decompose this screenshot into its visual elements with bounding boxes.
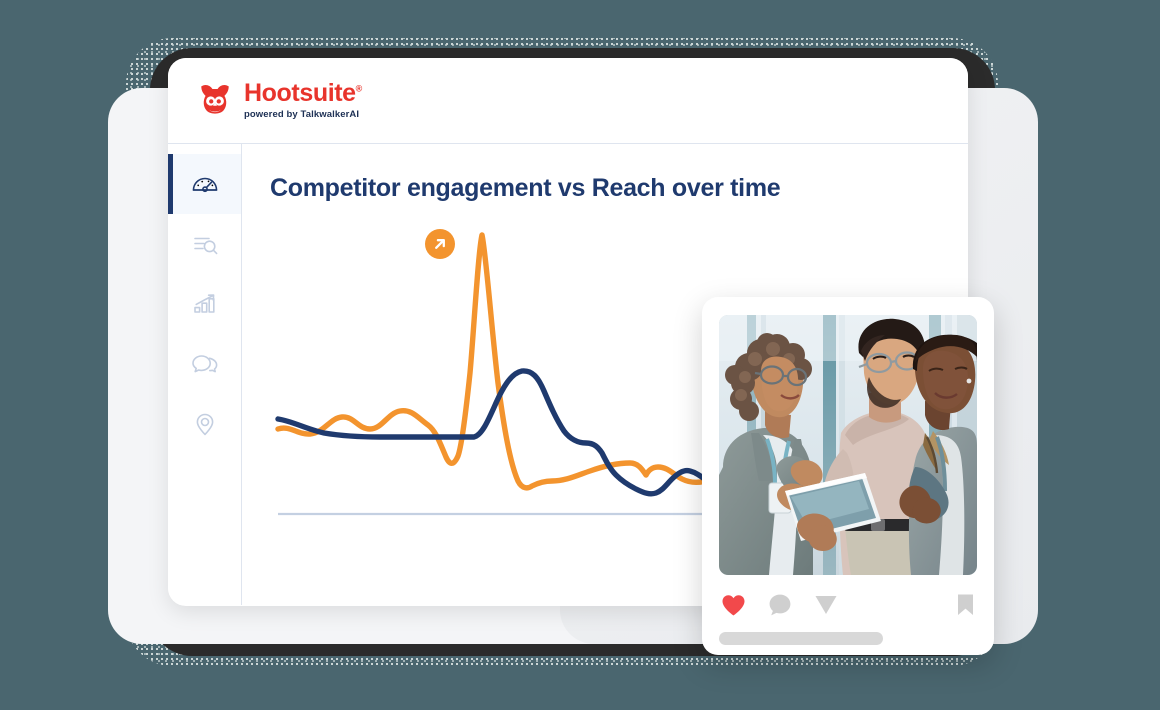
page-title: Competitor engagement vs Reach over time (270, 174, 968, 203)
registered-mark: ® (356, 84, 362, 94)
office-team-photo (719, 315, 977, 575)
heart-icon[interactable] (721, 594, 746, 617)
sidebar-item-dashboard[interactable] (168, 154, 241, 214)
search-list-icon (190, 229, 220, 259)
speedometer-icon (190, 169, 220, 199)
social-post-card (702, 297, 994, 655)
owl-icon (196, 83, 234, 119)
map-pin-icon (190, 409, 220, 439)
sidebar-item-locations[interactable] (168, 394, 241, 454)
speech-bubbles-icon (190, 349, 220, 379)
screenshot-stage: Hootsuite® powered by TalkwalkerAI (0, 0, 1160, 710)
send-triangle-icon[interactable] (814, 594, 838, 616)
comment-bubble-icon[interactable] (768, 593, 792, 617)
post-photo (719, 315, 977, 575)
bar-chart-trend-icon (190, 289, 220, 319)
sidebar-item-search-listening[interactable] (168, 214, 241, 274)
sidebar-item-analytics[interactable] (168, 274, 241, 334)
arrow-up-right-icon (432, 236, 448, 252)
brand-name-text: Hootsuite (244, 79, 356, 107)
app-header: Hootsuite® powered by TalkwalkerAI (168, 58, 968, 144)
bookmark-icon[interactable] (956, 593, 975, 617)
brand-tagline: powered by TalkwalkerAI (244, 109, 362, 120)
post-action-bar (719, 592, 977, 618)
brand-name: Hootsuite® (244, 81, 362, 106)
sidebar-item-conversations[interactable] (168, 334, 241, 394)
brand-logo[interactable]: Hootsuite® powered by TalkwalkerAI (196, 81, 362, 120)
sidebar-nav (168, 144, 242, 605)
post-caption-placeholder (719, 632, 883, 645)
peak-annotation-badge[interactable] (425, 229, 455, 259)
